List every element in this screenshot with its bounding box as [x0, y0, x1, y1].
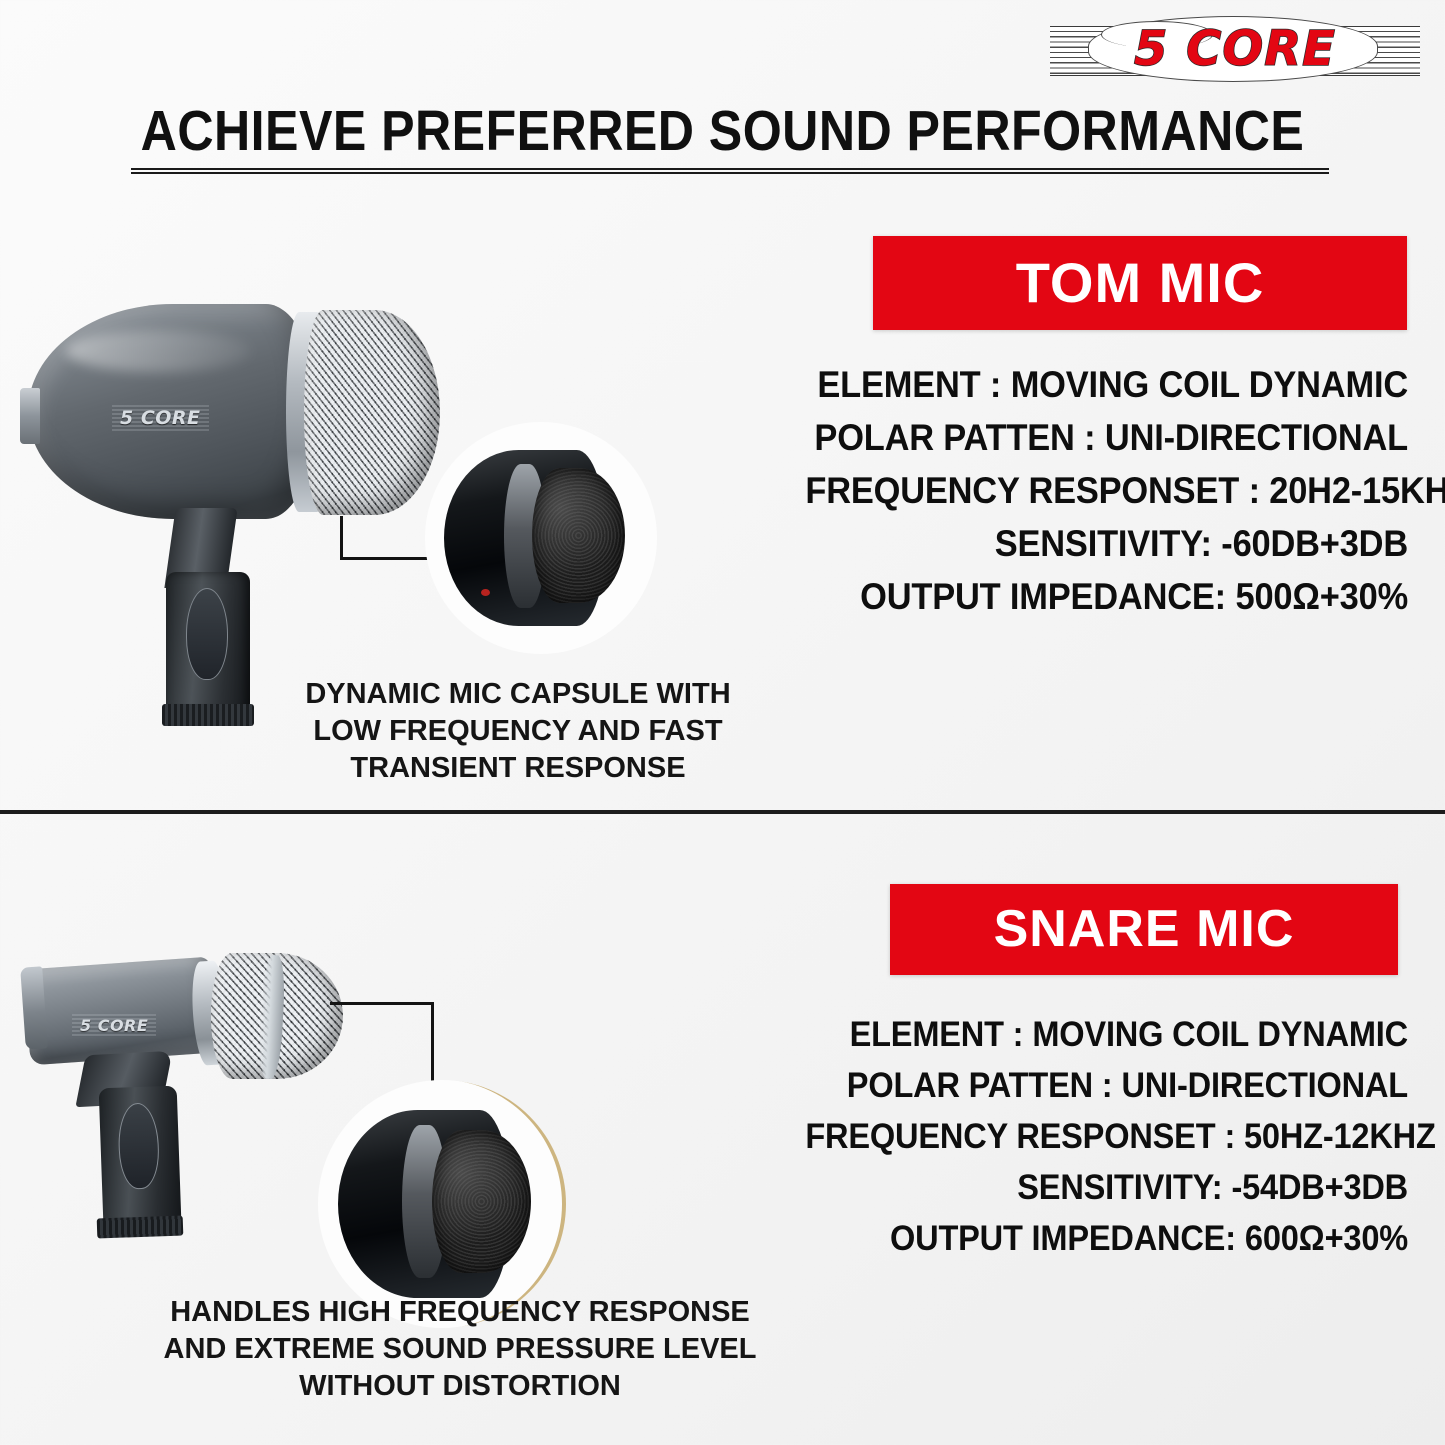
spec-value: -54DB+3DB: [1231, 1168, 1408, 1207]
spec-value: 500Ω+30%: [1236, 576, 1408, 617]
spec-label: POLAR PATTEN :: [814, 417, 1095, 458]
callout-vertical-segment: [340, 516, 343, 560]
spec-label: OUTPUT IMPEDANCE:: [890, 1219, 1236, 1258]
spec-value: UNI-DIRECTIONAL: [1105, 417, 1408, 458]
tom-mic-banner: TOM MIC: [873, 236, 1407, 330]
spec-row: POLAR PATTEN : UNI-DIRECTIONAL: [805, 411, 1408, 464]
spec-value: : 50HZ-12KHZ: [1224, 1117, 1435, 1156]
brand-logo: 5 CORE: [1040, 10, 1430, 88]
page-title: ACHIEVE PREFERRED SOUND PERFORMANCE: [87, 98, 1359, 164]
spec-row: ELEMENT : MOVING COIL DYNAMIC: [805, 1009, 1408, 1060]
spec-row: FREQUENCY RESPONSET : 50HZ-12KHZ: [805, 1111, 1408, 1162]
spec-label: OUTPUT IMPEDANCE:: [860, 576, 1226, 617]
snare-mic-banner: SNARE MIC: [890, 884, 1398, 975]
snare-mic-caption: HANDLES HIGH FREQUENCY RESPONSE AND EXTR…: [150, 1294, 770, 1405]
spec-value: 600Ω+30%: [1245, 1219, 1408, 1258]
spec-row: POLAR PATTEN : UNI-DIRECTIONAL: [805, 1060, 1408, 1111]
spec-value: -60DB+3DB: [1221, 523, 1408, 564]
capsule-red-marker: [481, 589, 490, 596]
spec-label: ELEMENT :: [850, 1015, 1024, 1054]
tom-mic-clip-slot: [186, 588, 228, 680]
tom-mic-xlr-connector: [20, 388, 40, 444]
snare-mic-mount-clip: [99, 1086, 182, 1225]
spec-row: OUTPUT IMPEDANCE: 600Ω+30%: [805, 1213, 1408, 1264]
tom-mic-body-highlight: [66, 330, 251, 372]
spec-row: SENSITIVITY: -60DB+3DB: [805, 517, 1408, 570]
spec-row: ELEMENT : MOVING COIL DYNAMIC: [805, 358, 1408, 411]
callout-vertical-segment: [431, 1002, 434, 1090]
snare-mic-spec-panel: SNARE MIC ELEMENT : MOVING COIL DYNAMIC …: [760, 884, 1420, 1264]
spec-value: : 20H2-15KHZ: [1249, 470, 1445, 511]
spec-label: FREQUENCY RESPONSET: [805, 1117, 1215, 1156]
spec-label: ELEMENT :: [817, 364, 1001, 405]
tom-mic-spec-list: ELEMENT : MOVING COIL DYNAMIC POLAR PATT…: [760, 358, 1420, 623]
title-underline-rule: [131, 168, 1329, 174]
capsule-diaphragm-face: [432, 1130, 531, 1274]
tom-mic-clip-base: [162, 704, 254, 726]
logo-wordmark: 5 CORE: [1100, 18, 1370, 80]
spec-value: MOVING COIL DYNAMIC: [1032, 1015, 1408, 1054]
tom-mic-mount-clip: [166, 572, 250, 712]
section-divider: [0, 810, 1445, 814]
spec-value: MOVING COIL DYNAMIC: [1011, 364, 1408, 405]
spec-value: UNI-DIRECTIONAL: [1121, 1066, 1408, 1105]
snare-mic-clip-base: [97, 1216, 184, 1239]
spec-label: POLAR PATTEN :: [847, 1066, 1113, 1105]
spec-label: FREQUENCY RESPONSET: [805, 470, 1239, 511]
snare-capsule-closeup-inset: [318, 1080, 566, 1328]
tom-mic-caption: DYNAMIC MIC CAPSULE WITH LOW FREQUENCY A…: [278, 676, 758, 787]
callout-horizontal-segment: [330, 1002, 434, 1005]
tom-mic-mesh-grille: [304, 310, 440, 515]
spec-row: OUTPUT IMPEDANCE: 500Ω+30%: [805, 570, 1408, 623]
tom-mic-spec-panel: TOM MIC ELEMENT : MOVING COIL DYNAMIC PO…: [760, 236, 1420, 623]
tom-capsule-closeup-inset: [425, 422, 657, 654]
spec-row: FREQUENCY RESPONSET : 20H2-15KHZ: [805, 464, 1408, 517]
snare-mic-spec-list: ELEMENT : MOVING COIL DYNAMIC POLAR PATT…: [760, 1009, 1420, 1264]
spec-label: SENSITIVITY:: [995, 523, 1212, 564]
tom-mic-product-image: [18, 290, 438, 730]
spec-label: SENSITIVITY:: [1017, 1168, 1222, 1207]
snare-mic-body: [24, 957, 216, 1066]
capsule-diaphragm-face: [532, 468, 625, 603]
spec-row: SENSITIVITY: -54DB+3DB: [805, 1162, 1408, 1213]
snare-mic-clip-slot: [117, 1102, 160, 1189]
